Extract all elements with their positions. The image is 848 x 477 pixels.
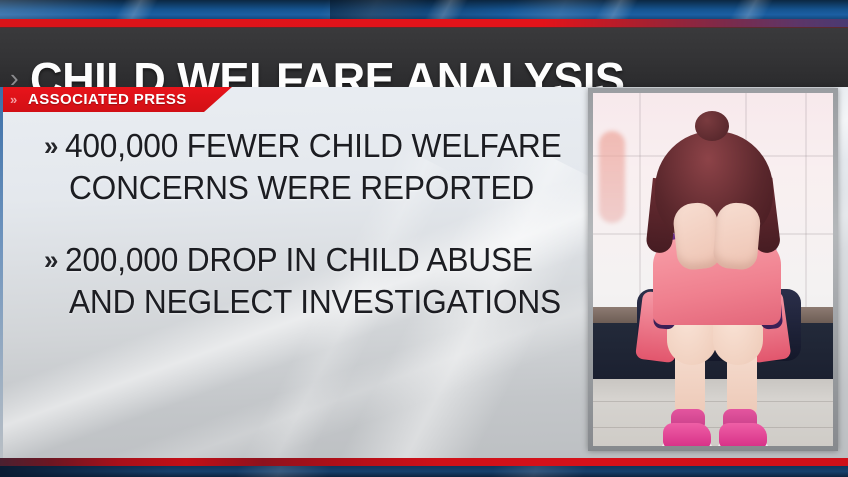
source-banner: » ASSOCIATED PRESS [0, 87, 232, 112]
tile-grout-line [805, 93, 807, 307]
list-item: »200,000 DROP IN CHILD ABUSE AND NEGLECT… [44, 239, 564, 323]
floor-tile-line [593, 427, 833, 428]
bullet-text: AND NEGLECT INVESTIGATIONS [69, 283, 561, 320]
child-covering-face-photo [593, 93, 833, 446]
sneaker [663, 423, 711, 446]
photo-frame [588, 88, 838, 451]
bullet-line: CONCERNS WERE REPORTED [44, 167, 543, 209]
bullet-text: CONCERNS WERE REPORTED [69, 169, 534, 206]
hand [712, 201, 762, 271]
bottom-left-shadow [0, 466, 170, 477]
bullet-line: »400,000 FEWER CHILD WELFARE [44, 125, 543, 167]
double-chevron-icon: » [44, 245, 58, 275]
bullet-line: »200,000 DROP IN CHILD ABUSE [44, 239, 543, 281]
bullet-line: AND NEGLECT INVESTIGATIONS [44, 281, 543, 323]
background-figure [599, 131, 625, 223]
broadcast-lower-third-graphic: › CHILD WELFARE ANALYSIS » ASSOCIATED PR… [0, 0, 848, 477]
headline-bar: › CHILD WELFARE ANALYSIS [0, 27, 848, 87]
hair-bun [695, 111, 729, 141]
double-chevron-icon: » [10, 92, 17, 107]
bullet-list: »400,000 FEWER CHILD WELFARE CONCERNS WE… [44, 125, 564, 353]
tile-grout-line [639, 93, 641, 307]
floor-tile-line [593, 401, 833, 402]
double-chevron-icon: » [44, 131, 58, 161]
top-blue-band [0, 0, 848, 21]
list-item: »400,000 FEWER CHILD WELFARE CONCERNS WE… [44, 125, 564, 209]
sneaker [719, 423, 767, 446]
bullet-text: 200,000 DROP IN CHILD ABUSE [65, 241, 533, 278]
panel-left-accent-edge [0, 87, 3, 459]
source-label: ASSOCIATED PRESS [28, 91, 187, 108]
bullet-text: 400,000 FEWER CHILD WELFARE [65, 127, 562, 164]
floor [593, 379, 833, 446]
